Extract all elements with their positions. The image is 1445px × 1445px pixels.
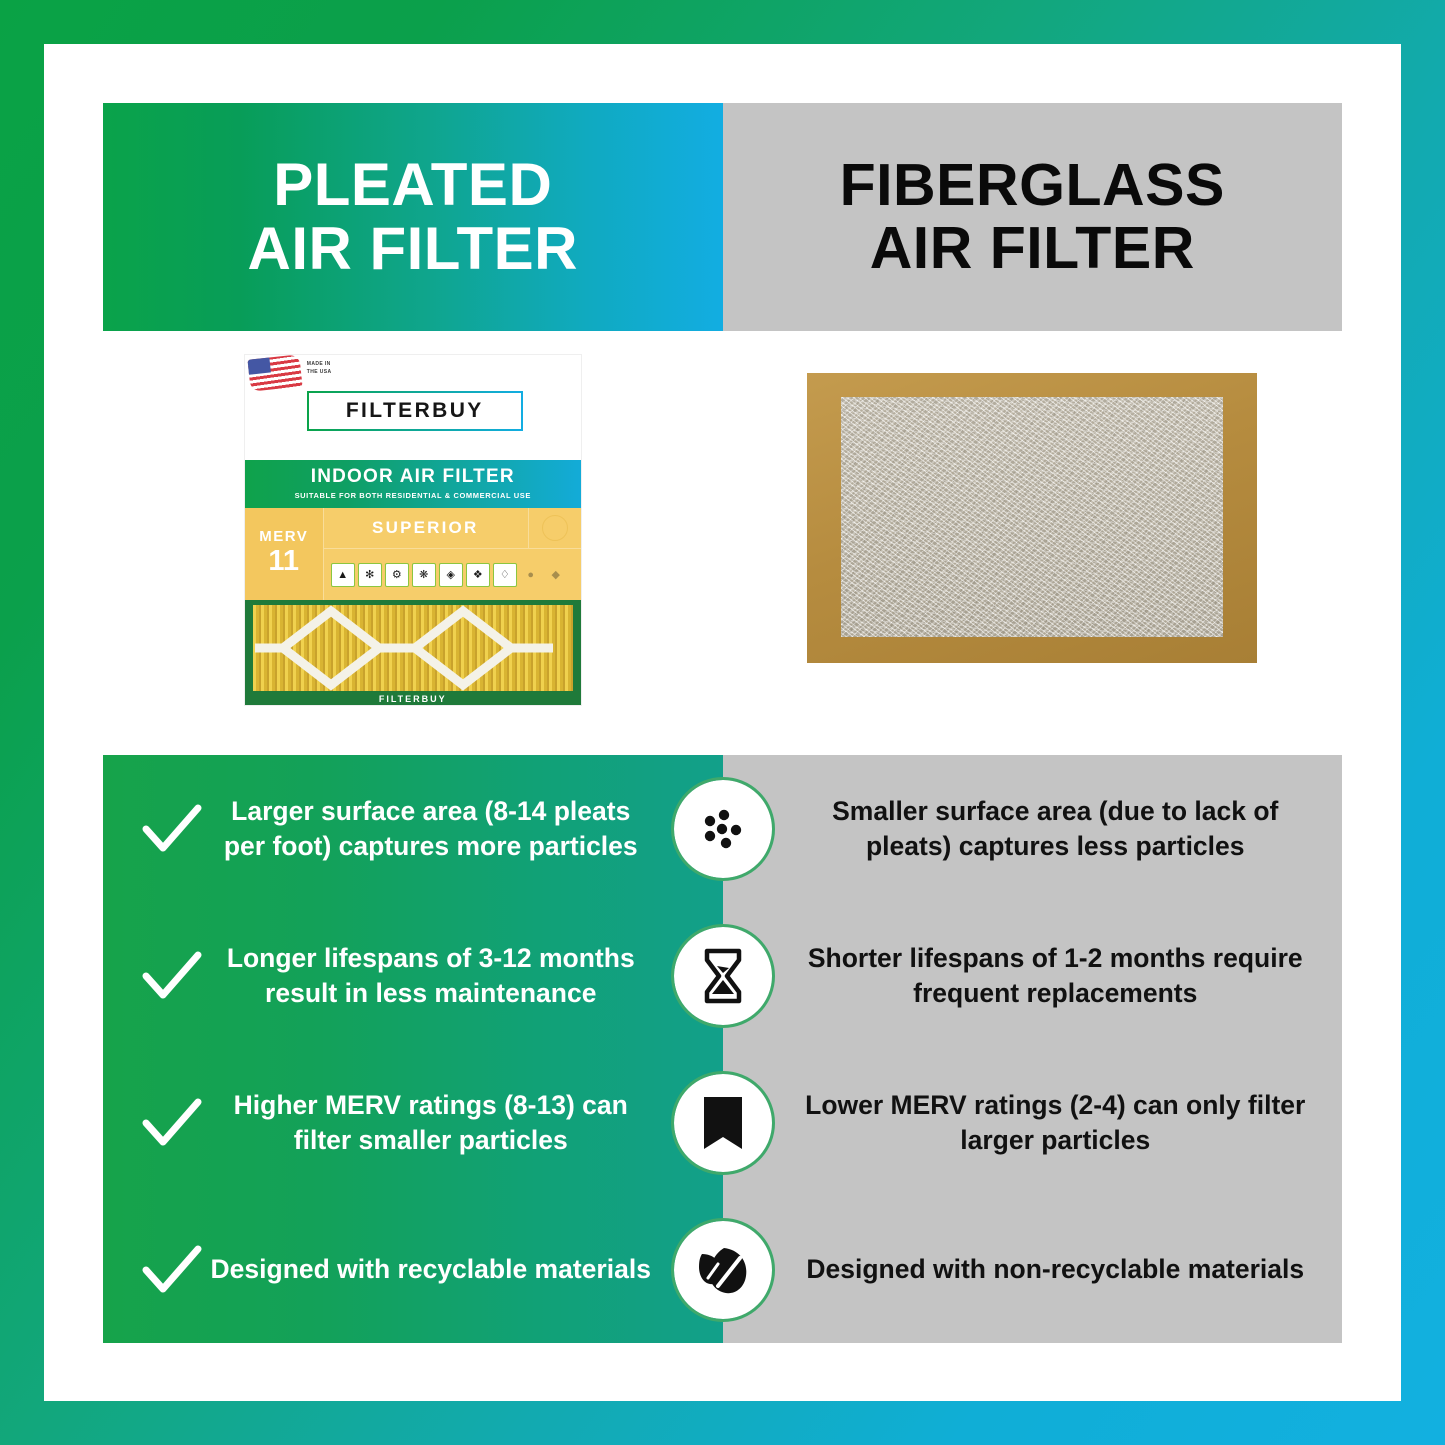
pollen-icon: ❋ [412,563,436,587]
hourglass-icon [677,930,769,1022]
made-in-line2: THE USA [307,369,332,377]
box-top-white-panel: MADE IN THE USA FILTERBUY [245,355,581,460]
bookmark-icon [677,1077,769,1169]
box-footer-brand: FILTERBUY [245,694,581,704]
merv-rating-block: MERV 11 [245,508,324,600]
comparison-row: Longer lifespans of 3-12 months result i… [103,902,1342,1049]
row-right-cell: Shorter lifespans of 1-2 months require … [723,941,1343,1010]
merv-gold-band: MERV 11 SUPERIOR ▲ ✻ ⚙ ❋ ◈ ❖ ♢ [245,508,581,600]
certification-seal-icon [542,515,568,541]
cardboard-frame [807,373,1257,663]
odor-icon-disabled: ● [520,564,542,586]
check-icon [141,1244,203,1296]
mold-icon: ⚙ [385,563,409,587]
row-left-text: Larger surface area (8-14 pleats per foo… [209,794,653,863]
header-fiberglass-line1: FIBERGLASS [840,152,1225,218]
header-pleated-title: PLEATED AIR FILTER [247,153,578,281]
comparison-row: Designed with recyclable materials Desig… [103,1196,1342,1343]
smoke-icon: ♢ [493,563,517,587]
check-icon [141,950,203,1002]
filterbuy-logo-text: FILTERBUY [346,399,484,423]
leaves-icon [677,1224,769,1316]
row-right-cell: Smaller surface area (due to lack of ple… [723,794,1343,863]
comparison-row: Larger surface area (8-14 pleats per foo… [103,755,1342,902]
indoor-band-subtitle: SUITABLE FOR BOTH RESIDENTIAL & COMMERCI… [245,488,581,500]
row-right-cell: Lower MERV ratings (2-4) can only filter… [723,1088,1343,1157]
capture-icons-row: ▲ ✻ ⚙ ❋ ◈ ❖ ♢ ● ◆ [323,549,581,600]
virus-icon-disabled: ◆ [545,564,567,586]
check-icon [141,803,203,855]
support-mesh-icon [253,605,573,691]
pleated-media-photo: FILTERBUY [245,600,581,705]
header-fiberglass-title: FIBERGLASS AIR FILTER [840,154,1225,280]
bug-icon: ✻ [358,563,382,587]
pet-dander-icon: ❖ [466,563,490,587]
row-left-text: Longer lifespans of 3-12 months result i… [209,941,653,1010]
comparison-rows: Larger surface area (8-14 pleats per foo… [103,755,1342,1343]
fiberglass-product-cell [723,331,1343,755]
grade-label: SUPERIOR [323,508,529,549]
made-in-usa-text: MADE IN THE USA [307,361,332,376]
row-right-text: Lower MERV ratings (2-4) can only filter… [803,1088,1309,1157]
comparison-board: PLEATED AIR FILTER FIBERGLASS AIR FILTER… [103,103,1342,1343]
usa-flag-icon [247,355,302,392]
header-pleated: PLEATED AIR FILTER [103,103,723,331]
row-right-cell: Designed with non-recyclable materials [723,1252,1343,1286]
fiberglass-mesh [841,397,1223,637]
header-fiberglass-line2: AIR FILTER [870,215,1195,281]
filterbuy-logo: FILTERBUY [307,391,523,431]
row-left-cell: Longer lifespans of 3-12 months result i… [103,941,723,1010]
check-icon [141,1097,203,1149]
row-right-text: Shorter lifespans of 1-2 months require … [803,941,1309,1010]
header-pleated-line1: PLEATED [273,151,552,218]
fiberglass-filter-image [807,373,1257,663]
row-right-text: Designed with non-recyclable materials [803,1252,1309,1286]
row-right-text: Smaller surface area (due to lack of ple… [803,794,1309,863]
bacteria-icon: ◈ [439,563,463,587]
particles-icon [677,783,769,875]
header-fiberglass: FIBERGLASS AIR FILTER [723,103,1343,331]
dust-icon: ▲ [331,563,355,587]
comparison-row: Higher MERV ratings (8-13) can filter sm… [103,1049,1342,1196]
row-left-text: Designed with recyclable materials [209,1252,653,1286]
product-image-band: MADE IN THE USA FILTERBUY INDOOR AIR FIL… [103,331,1342,755]
header-pleated-line2: AIR FILTER [247,215,578,282]
merv-value: 11 [245,545,323,576]
header-band: PLEATED AIR FILTER FIBERGLASS AIR FILTER [103,103,1342,331]
pleated-filter-box-image: MADE IN THE USA FILTERBUY INDOOR AIR FIL… [245,355,581,705]
row-left-text: Higher MERV ratings (8-13) can filter sm… [209,1088,653,1157]
row-left-cell: Higher MERV ratings (8-13) can filter sm… [103,1088,723,1157]
made-in-line1: MADE IN [307,361,332,369]
certification-seal-block [529,508,581,549]
indoor-band-title: INDOOR AIR FILTER [245,460,581,488]
pleated-product-cell: MADE IN THE USA FILTERBUY INDOOR AIR FIL… [103,331,723,755]
row-left-cell: Designed with recyclable materials [103,1244,723,1296]
indoor-air-filter-band: INDOOR AIR FILTER SUITABLE FOR BOTH RESI… [245,460,581,508]
merv-label: MERV [245,508,323,545]
row-left-cell: Larger surface area (8-14 pleats per foo… [103,794,723,863]
